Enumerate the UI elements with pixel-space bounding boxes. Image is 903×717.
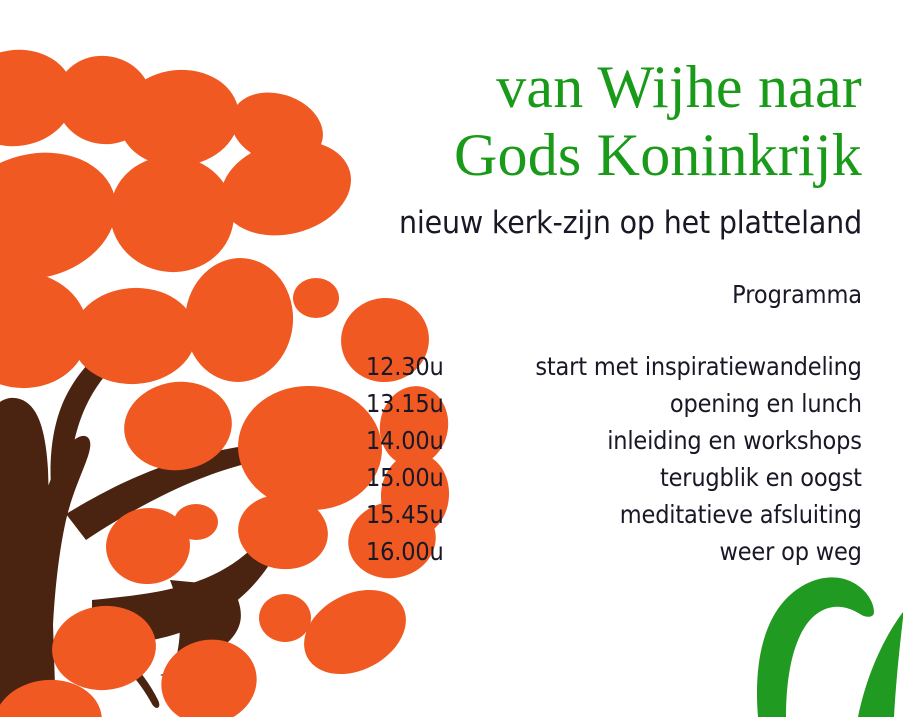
schedule-row: 12.30u start met inspiratiewandeling <box>366 352 862 389</box>
schedule-row: 14.00u inleiding en workshops <box>366 426 862 463</box>
poster-subtitle: nieuw kerk-zijn op het platteland <box>163 205 862 241</box>
programma-heading: Programma <box>412 280 862 309</box>
schedule-row: 16.00u weer op weg <box>366 537 862 574</box>
schedule-description: terugblik en oogst <box>493 463 862 492</box>
schedule-description: opening en lunch <box>493 389 862 418</box>
schedule-time: 16.00u <box>366 537 444 566</box>
schedule-row: 15.00u terugblik en oogst <box>366 463 862 500</box>
schedule-time: 13.15u <box>366 389 444 418</box>
schedule-time: 14.00u <box>366 426 444 455</box>
poster-canvas: van Wijhe naar Gods Koninkrijk nieuw ker… <box>0 0 903 717</box>
schedule-row: 13.15u opening en lunch <box>366 389 862 426</box>
schedule-time: 12.30u <box>366 352 444 381</box>
schedule-time: 15.00u <box>366 463 444 492</box>
poster-title: van Wijhe naar Gods Koninkrijk <box>142 54 862 190</box>
schedule-row: 15.45u meditatieve afsluiting <box>366 500 862 537</box>
schedule-description: start met inspiratiewandeling <box>493 352 862 381</box>
schedule-description: weer op weg <box>493 537 862 566</box>
title-line-2: Gods Koninkrijk <box>142 122 862 190</box>
programma-schedule: 12.30u start met inspiratiewandeling 13.… <box>366 352 862 574</box>
schedule-description: inleiding en workshops <box>493 426 862 455</box>
title-line-1: van Wijhe naar <box>142 54 862 122</box>
schedule-time: 15.45u <box>366 500 444 529</box>
schedule-description: meditatieve afsluiting <box>493 500 862 529</box>
